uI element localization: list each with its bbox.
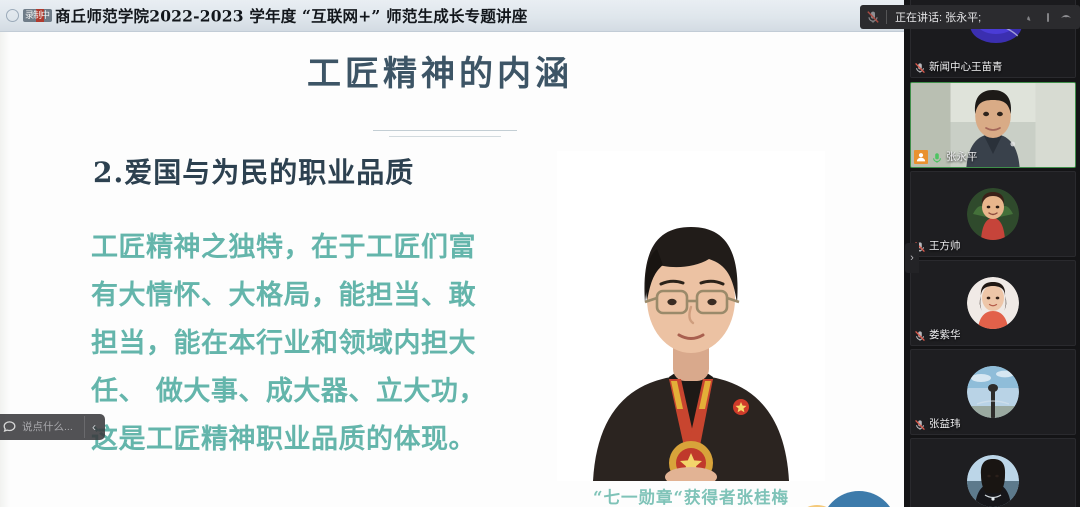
tile-participant-name: 张益玮: [929, 416, 961, 431]
network-icon: [1059, 10, 1073, 24]
participant-tile-strip[interactable]: 新闻中心王苗青: [910, 0, 1076, 507]
deco-half-circle-blue: [821, 491, 897, 507]
participant-tile[interactable]: [910, 438, 1076, 507]
panel-collapse-button[interactable]: ›: [905, 243, 919, 273]
avatar: [967, 455, 1019, 507]
chat-compose-bar[interactable]: ‹: [0, 414, 105, 440]
window-menu-icon: [6, 9, 19, 22]
speaker-bar-icons: [1023, 10, 1080, 24]
participant-tile[interactable]: 张益玮: [910, 349, 1076, 435]
avatar: [967, 277, 1019, 329]
speaker-bar-divider: [886, 10, 887, 24]
shared-window-titlebar: 录制中 商丘师范学院2022-2023 学年度 “互联网+” 师范生成长专题讲座: [0, 0, 904, 32]
avatar: [967, 188, 1019, 240]
tile-label: 新闻中心王苗青: [914, 59, 1003, 74]
slide-body-text: 工匠精神之独特，在于工匠们富有大情怀、大格局，能担当、敢担当，能在本行业和领域内…: [91, 224, 491, 464]
tile-label: 张益玮: [914, 416, 961, 431]
tile-label: 张永平: [914, 149, 978, 164]
slide-title: 工匠精神的内涵: [0, 46, 880, 95]
microphone-muted-icon: [914, 418, 926, 430]
microphone-active-icon: [931, 151, 943, 163]
active-speaker-status: 正在讲话: 张永平;: [895, 9, 1023, 25]
participants-panel: 新闻中心王苗青: [904, 0, 1080, 507]
chat-bubble-icon: [2, 419, 18, 435]
avatar: [967, 366, 1019, 418]
participant-tile[interactable]: 王方帅: [910, 171, 1076, 257]
honoree-photo: [557, 151, 825, 481]
active-speaker-bar: 正在讲话: 张永平;: [860, 5, 1080, 29]
tile-participant-name: 娄紫华: [929, 327, 961, 342]
photo-caption: “七一勋章“获得者张桂梅: [557, 484, 825, 507]
shared-screen-stage: 录制中 商丘师范学院2022-2023 学年度 “互联网+” 师范生成长专题讲座…: [0, 0, 904, 507]
tile-participant-name: 新闻中心王苗青: [929, 59, 1003, 74]
host-badge-icon: [914, 150, 928, 164]
slide-title-divider: [373, 130, 517, 131]
tile-participant-name: 王方帅: [929, 238, 961, 253]
participant-tile[interactable]: 张永平: [910, 82, 1076, 168]
tile-label: 娄紫华: [914, 327, 961, 342]
slide-subtitle: 2.爱国与为民的职业品质: [93, 151, 414, 191]
microphone-muted-icon: [914, 329, 926, 341]
slide-page-decoration: 10: [793, 489, 897, 507]
chat-collapse-button[interactable]: ‹: [84, 416, 103, 438]
shared-window-title: 商丘师范学院2022-2023 学年度 “互联网+” 师范生成长专题讲座: [55, 4, 527, 26]
tile-label: 王方帅: [914, 238, 961, 253]
chat-input[interactable]: [22, 421, 84, 433]
audio-wave-icon: [1023, 10, 1037, 24]
microphone-muted-icon: [866, 10, 880, 24]
tile-video-area: [911, 439, 1075, 507]
presentation-slide: 工匠精神的内涵 2.爱国与为民的职业品质 工匠精神之独特，在于工匠们富有大情怀、…: [0, 32, 904, 507]
participant-tile[interactable]: 娄紫华: [910, 260, 1076, 346]
recording-badge: 录制中: [23, 9, 52, 22]
signal-icon: [1041, 10, 1055, 24]
tile-participant-name: 张永平: [946, 149, 978, 164]
meeting-app-window: 录制中 商丘师范学院2022-2023 学年度 “互联网+” 师范生成长专题讲座…: [0, 0, 1080, 507]
microphone-muted-icon: [914, 61, 926, 73]
